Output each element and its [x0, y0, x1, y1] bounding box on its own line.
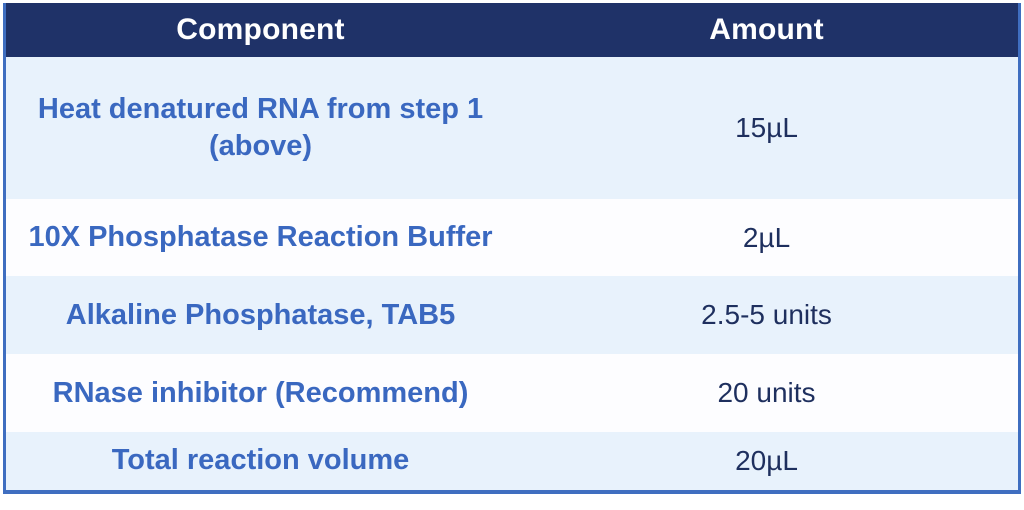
cell-component: 10X Phosphatase Reaction Buffer: [6, 199, 515, 277]
table-row: Alkaline Phosphatase, TAB5 2.5-5 units: [6, 276, 1018, 354]
table-header-row: Component Amount: [6, 3, 1018, 57]
table-row: Total reaction volume 20µL: [6, 432, 1018, 490]
cell-amount: 20µL: [515, 432, 1018, 490]
column-header-component: Component: [6, 3, 515, 57]
protocol-table-container: Component Amount Heat denatured RNA from…: [3, 3, 1021, 494]
cell-amount: 15µL: [515, 57, 1018, 199]
cell-amount: 20 units: [515, 354, 1018, 432]
table-body: Heat denatured RNA from step 1 (above) 1…: [6, 57, 1018, 490]
cell-component: Alkaline Phosphatase, TAB5: [6, 276, 515, 354]
cell-amount: 2µL: [515, 199, 1018, 277]
cell-amount: 2.5-5 units: [515, 276, 1018, 354]
cell-component: Total reaction volume: [6, 432, 515, 490]
protocol-table: Component Amount Heat denatured RNA from…: [6, 3, 1018, 490]
cell-component: Heat denatured RNA from step 1 (above): [6, 57, 515, 199]
table-row: RNase inhibitor (Recommend) 20 units: [6, 354, 1018, 432]
table-row: 10X Phosphatase Reaction Buffer 2µL: [6, 199, 1018, 277]
table-row: Heat denatured RNA from step 1 (above) 1…: [6, 57, 1018, 199]
column-header-amount: Amount: [515, 3, 1018, 57]
table-header: Component Amount: [6, 3, 1018, 57]
cell-component: RNase inhibitor (Recommend): [6, 354, 515, 432]
